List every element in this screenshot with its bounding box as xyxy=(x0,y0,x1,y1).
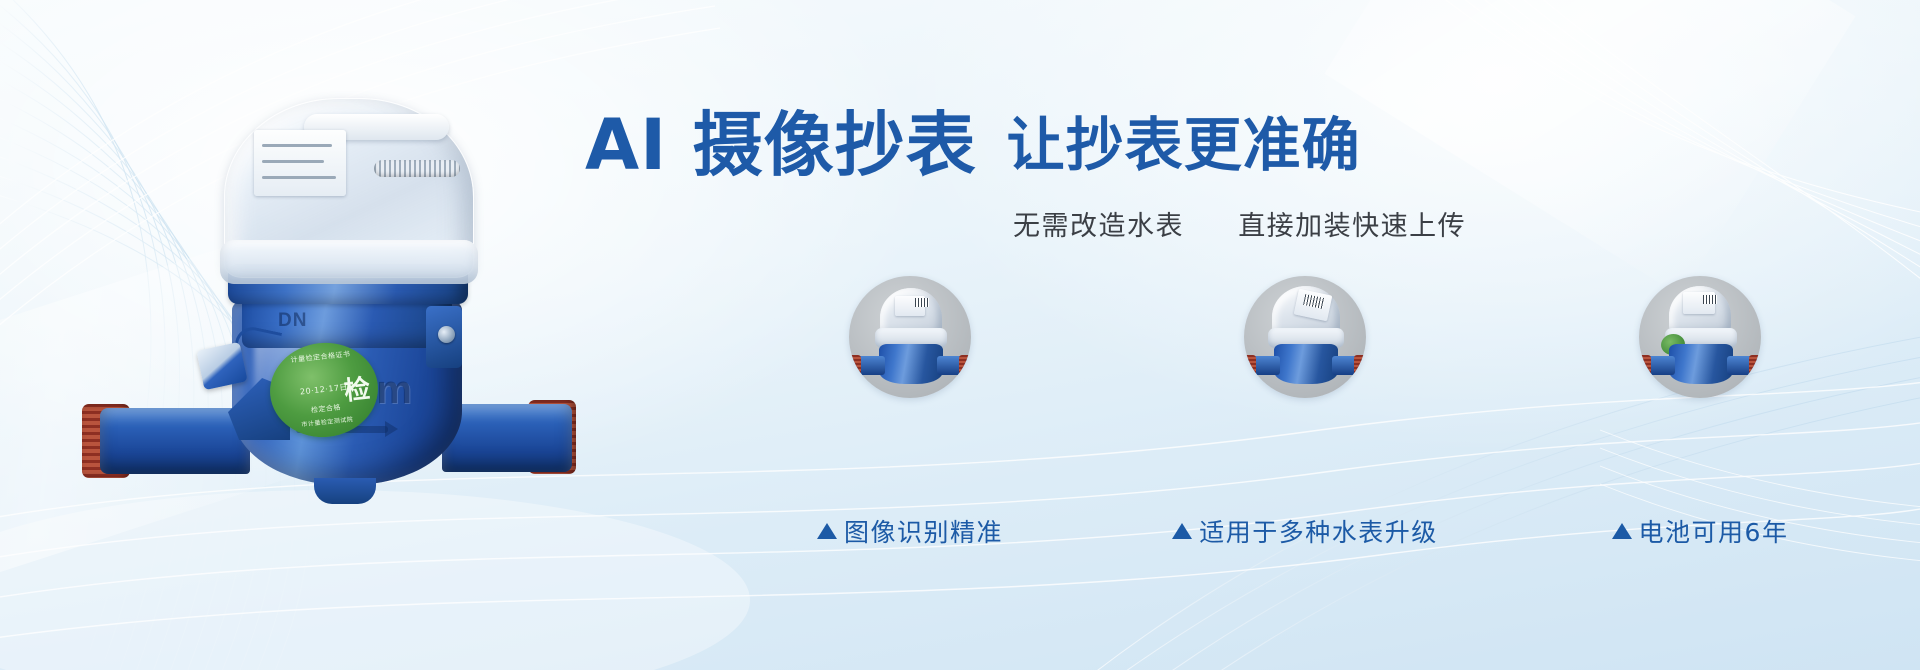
thumb3-body xyxy=(1669,344,1733,384)
feature-caption-1-label: 图像识别精准 xyxy=(844,513,1003,549)
thumb2-thread-right xyxy=(1354,355,1366,377)
feature-caption-3-label: 电池可用6年 xyxy=(1639,513,1789,549)
thumb1-thread-right xyxy=(959,355,971,377)
feature-caption-3: 电池可用6年 xyxy=(1612,510,1789,552)
feature-thumb-col-3 xyxy=(1550,276,1850,456)
product-photo-water-meter: 20mm DN 计量检定合格证书 20·12·17日 检 检定合格 市计量检定测… xyxy=(82,78,572,508)
feature-thumb-col-2 xyxy=(1155,276,1455,456)
meter-dial-card xyxy=(254,130,346,196)
meter-dome-ring xyxy=(220,240,478,284)
water-meter-thumb-2[interactable] xyxy=(1244,276,1366,398)
thumb1-barcode-icon xyxy=(915,298,929,307)
headline-primary: AI 摄像抄表 xyxy=(585,110,977,180)
promo-banner: 20mm DN 计量检定合格证书 20·12·17日 检 检定合格 市计量检定测… xyxy=(0,0,1920,670)
pipe-left xyxy=(100,408,250,474)
feature-caption-1: 图像识别精准 xyxy=(817,510,1003,552)
antenna-coil xyxy=(374,160,460,177)
meter-brand-marking: DN xyxy=(278,310,307,332)
thumb2-body xyxy=(1274,344,1338,384)
meter-foot xyxy=(314,478,376,504)
feature-caption-2: 适用于多种水表升级 xyxy=(1172,510,1438,552)
feature-caption-col-2: 适用于多种水表升级 xyxy=(1155,510,1455,552)
feature-caption-2-label: 适用于多种水表升级 xyxy=(1199,513,1438,549)
banner-headline: AI 摄像抄表 让抄表更准确 xyxy=(585,103,1885,187)
thumb3-thread-right xyxy=(1749,355,1761,377)
water-meter-thumb-1[interactable] xyxy=(849,276,971,398)
thumb1-body xyxy=(879,344,943,384)
feature-caption-col-1: 图像识别精准 xyxy=(760,510,1060,552)
headline-secondary: 让抄表更准确 xyxy=(1007,116,1361,174)
water-meter-thumb-3[interactable] xyxy=(1639,276,1761,398)
subtitle-right: 直接加装快速上传 xyxy=(1238,211,1466,242)
thumb2-thread-left xyxy=(1244,355,1256,377)
feature-caption-row: 图像识别精准 适用于多种水表升级 电池可用6年 xyxy=(760,510,1850,552)
triangle-marker-icon xyxy=(1612,523,1632,539)
subtitle-left: 无需改造水表 xyxy=(1013,211,1184,242)
banner-subtitle: 无需改造水表 直接加装快速上传 xyxy=(1013,204,1466,243)
triangle-marker-icon xyxy=(1172,523,1192,539)
screw-icon xyxy=(438,326,455,343)
triangle-marker-icon xyxy=(817,523,837,539)
thumb3-barcode-icon xyxy=(1703,295,1717,304)
thumb1-thread-left xyxy=(849,355,861,377)
feature-thumbnail-row xyxy=(760,276,1850,456)
thumb3-thread-left xyxy=(1639,355,1651,377)
feature-thumb-col-1 xyxy=(760,276,1060,456)
feature-caption-col-3: 电池可用6年 xyxy=(1550,510,1850,552)
